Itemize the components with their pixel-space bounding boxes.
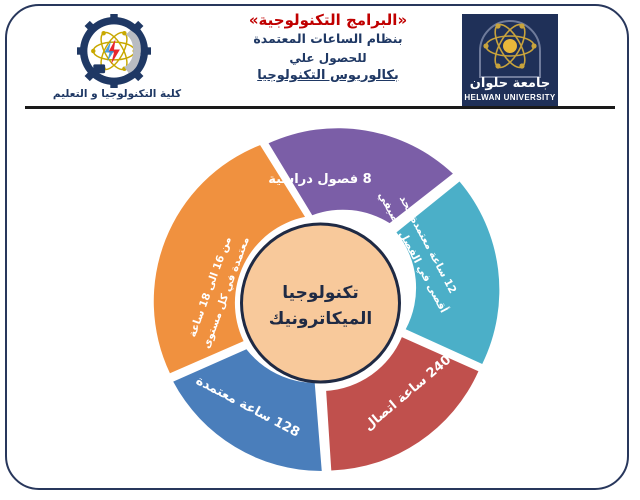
header-title-block: «البرامج التكنولوجية» بنظام الساعات المع… [203, 10, 453, 86]
degree-label: بكالوريوس التكنولوجيا [203, 67, 453, 86]
label-semesters: 8 فصول دراسية [268, 172, 371, 187]
obtain-label: للحصول علي [203, 49, 453, 67]
faculty-logo: كلية التكنولوجيا و التعليم [29, 12, 205, 106]
university-logo: جامعة حلوان HELWAN UNIVERSITY [462, 14, 558, 107]
university-name-english: HELWAN UNIVERSITY [462, 93, 558, 102]
donut-chart-svg: تكنولوجيا الميكاترونيك 8 فصول دراسية 12 … [113, 118, 528, 488]
credit-system-subtitle: بنظام الساعات المعتمدة [203, 30, 453, 49]
program-title: «البرامج التكنولوجية» [203, 10, 453, 30]
gear-atom-icon [77, 14, 151, 88]
faculty-name-label: كلية التكنولوجيا و التعليم [29, 88, 205, 100]
header-divider [25, 106, 615, 109]
donut-chart: تكنولوجيا الميكاترونيك 8 فصول دراسية 12 … [113, 118, 528, 488]
infographic-page: كلية التكنولوجيا و التعليم «البرامج التك… [0, 0, 640, 500]
center-circle [242, 224, 400, 382]
atom-icon [462, 16, 558, 78]
center-label-line1: تكنولوجيا [282, 283, 358, 303]
page-header: كلية التكنولوجيا و التعليم «البرامج التك… [7, 6, 627, 110]
center-label-line2: الميكاترونيك [269, 309, 373, 329]
university-name-arabic: جامعة حلوان [462, 76, 558, 91]
